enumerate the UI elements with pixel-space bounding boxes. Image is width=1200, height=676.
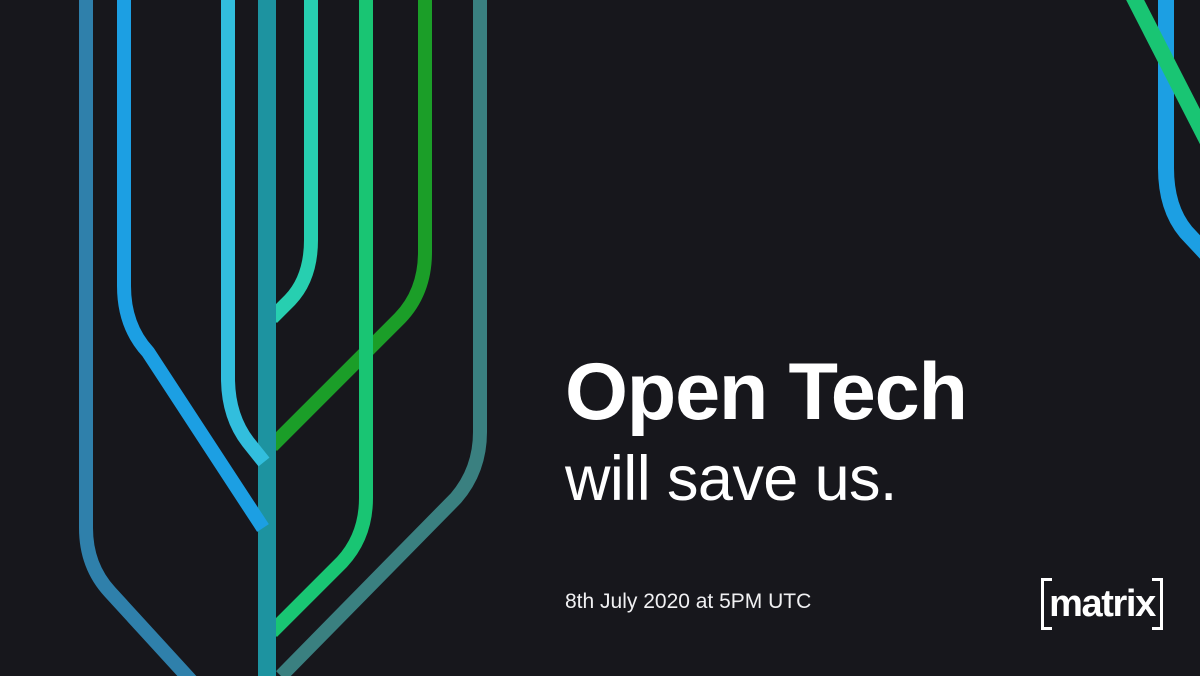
text-content: Open Tech will save us. 8th July 2020 at… (565, 0, 1165, 676)
event-datetime: 8th July 2020 at 5PM UTC (565, 591, 811, 612)
matrix-logo: matrix (1041, 578, 1163, 630)
pipe-green-path (272, 0, 425, 446)
pipe-turquoise-path (272, 0, 311, 318)
poster: Open Tech will save us. 8th July 2020 at… (0, 0, 1200, 676)
matrix-wordmark: matrix (1041, 578, 1163, 630)
pipe-bright-blue-path (124, 0, 263, 528)
page-subtitle: will save us. (565, 448, 897, 511)
page-title: Open Tech (565, 352, 967, 433)
pipe-emerald-path (272, 0, 366, 632)
